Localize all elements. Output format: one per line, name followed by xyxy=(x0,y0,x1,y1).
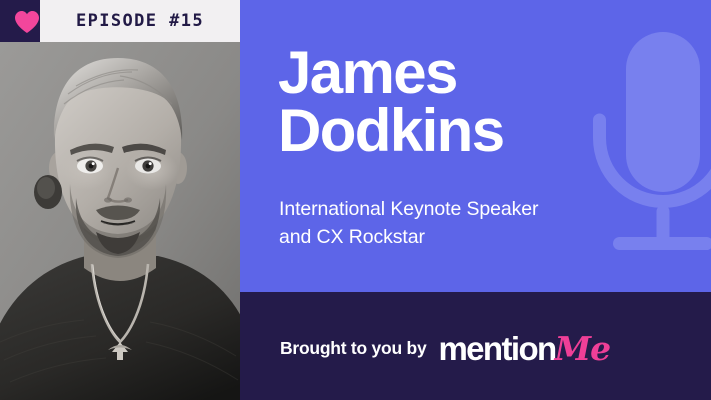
episode-label: EPISODE #15 xyxy=(76,11,204,31)
sponsor-row: Brought to you by mention Me xyxy=(280,332,610,365)
heart-icon xyxy=(14,10,40,34)
headline-block: James Dodkins xyxy=(278,44,608,159)
footer-bar: Brought to you by mention Me xyxy=(240,292,711,400)
logo-wordmark-primary: mention xyxy=(438,332,555,365)
speaker-subtitle: International Keynote Speaker and CX Roc… xyxy=(279,196,599,251)
episode-banner: EPISODE #15 xyxy=(0,0,240,42)
podcast-episode-card: James Dodkins International Keynote Spea… xyxy=(0,0,711,400)
episode-number-box: EPISODE #15 xyxy=(40,0,240,42)
speaker-photo xyxy=(0,42,240,400)
mentionme-logo: mention Me xyxy=(438,332,610,365)
logo-wordmark-accent: Me xyxy=(555,332,611,365)
page-title: James Dodkins xyxy=(278,44,608,159)
brought-to-you-by-label: Brought to you by xyxy=(280,338,426,359)
